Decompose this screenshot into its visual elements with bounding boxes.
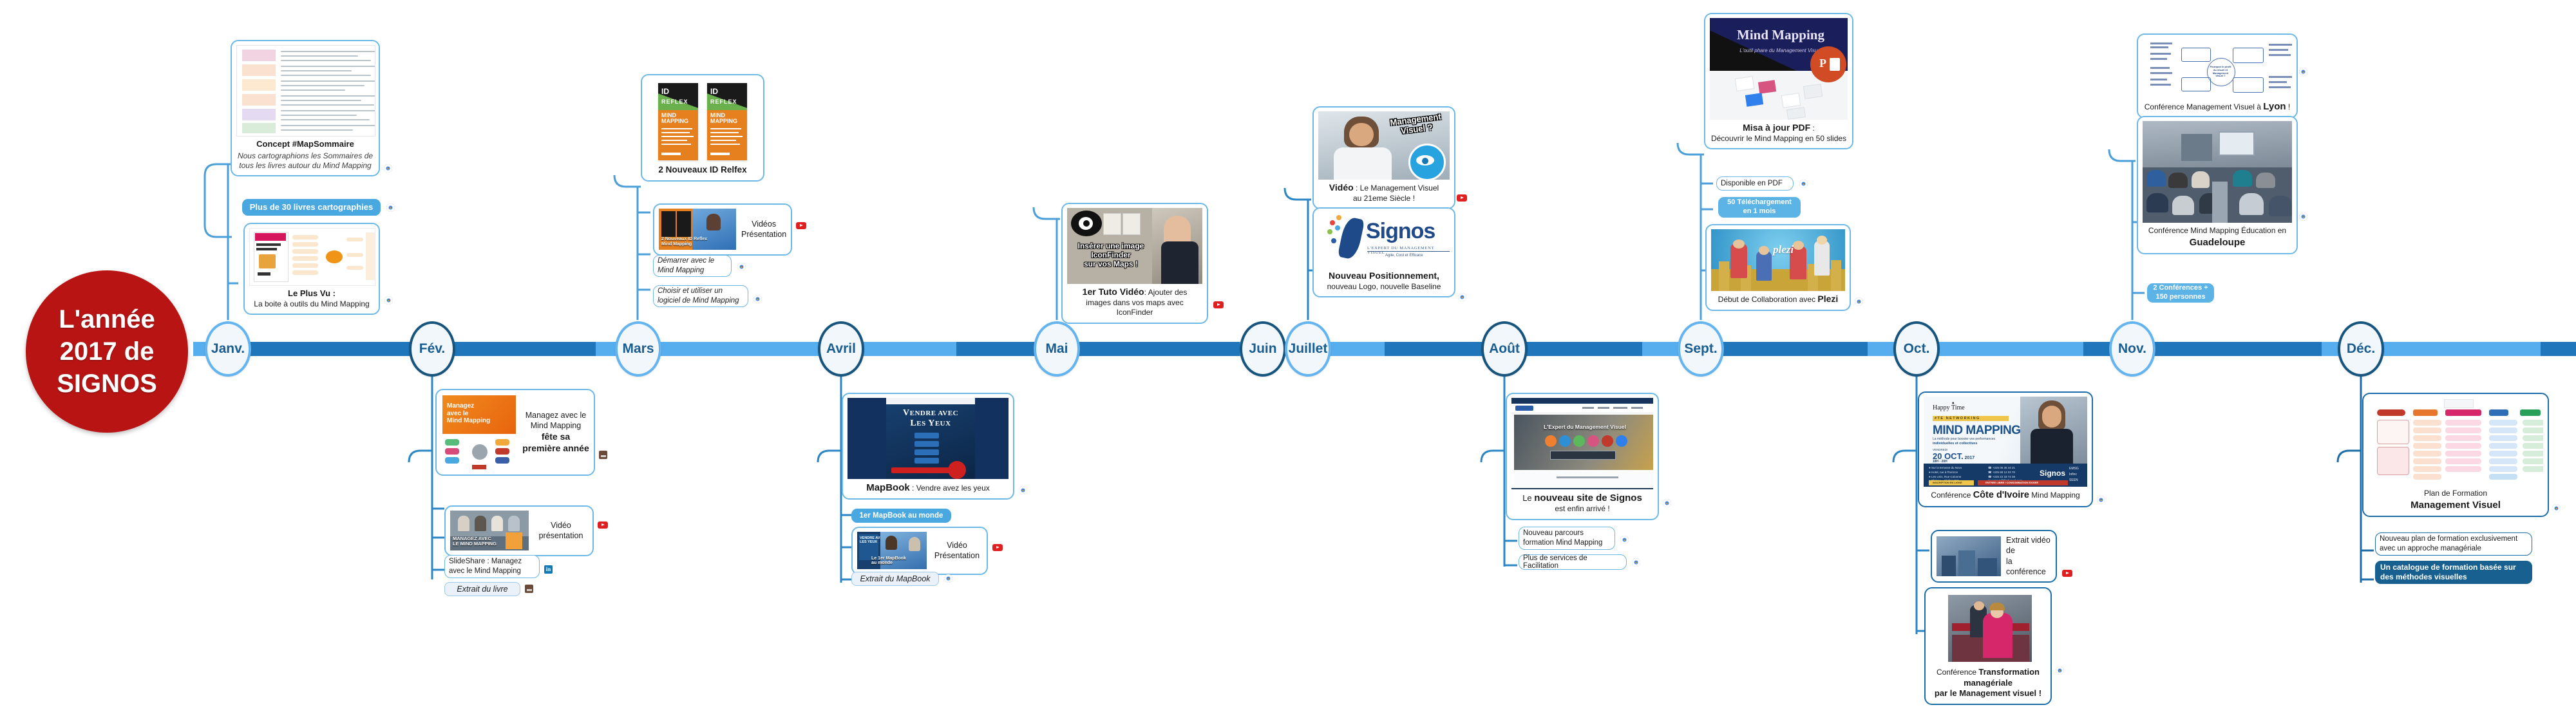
managez-text-plain: Managez avec le Mind Mapping [526, 411, 587, 430]
positionnement-caption: Nouveau Positionnement, nouveau Logo, no… [1318, 270, 1450, 292]
plezi-caption: Début de Collaboration avec Plezi [1711, 294, 1845, 305]
node-le-plus-vu[interactable]: Le Plus Vu : La boite à outils du Mind M… [243, 223, 380, 315]
lyon-caption: Conférence Management Visuel à Lyon ! [2143, 100, 2292, 113]
mapbook-subtitle: : Vendre avez les yeux [910, 484, 990, 493]
plusvu-title: Le Plus Vu : [288, 288, 336, 298]
chrome-icon[interactable] [1855, 297, 1863, 306]
plan-formation-caption: Plan de Formation Management Visuel [2368, 488, 2543, 511]
node-nouveau-site-signos[interactable]: L'Expert du Management Visuel Le nouveau… [1506, 393, 1659, 520]
chrome-icon[interactable] [1799, 180, 1808, 188]
nov-badge-line1: 2 Conférences + [2153, 284, 2208, 293]
timeline-month-sept[interactable]: Sept. [1678, 321, 1724, 377]
node-fev-video-presentation[interactable]: MANAGEZ AVECLE MIND MAPPING Vidéo présen… [444, 505, 594, 556]
youtube-icon[interactable] [1457, 194, 1467, 202]
demarrer-line1: Démarrer avec le [658, 257, 714, 265]
timeline-month-fev[interactable]: Fév. [409, 321, 455, 377]
month-label: Sept. [1684, 341, 1717, 357]
chrome-icon[interactable] [2299, 68, 2307, 76]
nov-badge-line2: 150 personnes [2155, 293, 2205, 302]
mgmt-video-desc: au 21eme Siècle ! [1318, 194, 1450, 203]
plusvu-desc: La boite à outils du Mind Mapping [249, 299, 374, 309]
node-avril-extrait-mapbook[interactable]: Extrait du MapBook [851, 572, 939, 586]
month-label: Nov. [2118, 341, 2146, 357]
node-oct-extrait-video[interactable]: Extrait vidéo de la conférence [1931, 530, 2057, 583]
chrome-icon[interactable] [386, 203, 395, 212]
node-aout-parcours[interactable]: Nouveau parcours formation Mind Mapping [1519, 527, 1615, 550]
timeline-month-oct[interactable]: Oct. [1893, 321, 1940, 377]
guadeloupe-caption: Conférence Mind Mapping Éducation en Gua… [2143, 225, 2292, 249]
node-1er-tuto-video[interactable]: Insérer une imageIconFindersur vos Maps … [1061, 203, 1208, 324]
hub-line-2: 2017 de [57, 335, 157, 368]
mindmap-timeline-canvas: Janv. Fév. Mars Avril Mai Juin Juillet A… [0, 0, 2576, 714]
idreflex-books: ID REFLEX MINDMAPPING ID REFLEX MINDMAPP… [647, 79, 759, 162]
chrome-icon[interactable] [753, 295, 762, 303]
node-plan-formation-management-visuel[interactable]: Plan de Formation Management Visuel [2362, 393, 2549, 517]
parcours-line2: formation Mind Mapping [1523, 539, 1602, 547]
node-sept-badge[interactable]: 50 Téléchargement en 1 mois [1718, 197, 1801, 218]
transfo-thumbnail [1930, 592, 2046, 664]
mgmt-video-title: Vidéo [1329, 182, 1354, 193]
site-caption: Le nouveau site de Signos est enfin arri… [1511, 492, 1653, 514]
youtube-icon[interactable] [796, 222, 806, 229]
timeline-month-juin[interactable]: Juin [1240, 321, 1286, 377]
node-nov-badge[interactable]: 2 Conférences + 150 personnes [2147, 283, 2214, 303]
idreflex-book-1: ID REFLEX MINDMAPPING [658, 83, 698, 160]
parcours-line1: Nouveau parcours [1523, 529, 1584, 537]
lyon-title-pre: Conférence Management Visuel à [2145, 102, 2264, 111]
node-mise-a-jour-pdf[interactable]: Mind Mapping L'outil phare du Management… [1704, 13, 1853, 149]
node-mars-choisir[interactable]: Choisir et utiliser un logiciel de Mind … [653, 285, 748, 307]
chrome-icon[interactable] [1620, 536, 1629, 544]
node-fev-slideshare[interactable]: SlideShare : Managez avec le Mind Mappin… [444, 555, 540, 578]
node-avril-badge[interactable]: 1er MapBook au monde [851, 509, 951, 523]
avril-video-line2: Présentation [934, 551, 980, 560]
chrome-icon[interactable] [737, 263, 746, 271]
timeline-month-juillet[interactable]: Juillet [1285, 321, 1331, 377]
oct-extrait-label: Extrait vidéo de la conférence [2006, 535, 2051, 577]
pdf-desc: Découvrir le Mind Mapping en 50 slides [1710, 134, 1848, 144]
lyon-title-post: ! [2286, 102, 2291, 111]
node-nouveau-positionnement[interactable]: Signos L'EXPERT DU MANAGEMENT VISUEL Agi… [1312, 207, 1455, 297]
avril-extrait-label: Extrait du MapBook [860, 574, 930, 583]
sept-badge-line2: en 1 mois [1743, 207, 1776, 216]
hub-line-1: L'année [57, 303, 157, 335]
node-dec-nouveau-plan[interactable]: Nouveau plan de formation exclusivement … [2375, 532, 2532, 556]
site-title-bold: nouveau site de Signos [1534, 493, 1642, 503]
oct-extrait-row: Extrait vidéo de la conférence [1937, 535, 2051, 577]
tuto-video-desc: images dans vos maps avec IconFinder [1067, 298, 1202, 318]
slideshare-line2: avec le Mind Mapping [449, 567, 521, 575]
guadeloupe-title-bold: Guadeloupe [2190, 237, 2246, 248]
mars-video-line2: Présentation [741, 230, 786, 239]
node-sept-disponible-pdf[interactable]: Disponible en PDF [1716, 176, 1794, 191]
plan-formation-thumbnail [2368, 398, 2543, 485]
demarrer-line2: Mind Mapping [658, 267, 704, 274]
site-title-pre: Le [1522, 493, 1534, 503]
idreflex-caption: 2 Nouveaux ID Relfex [647, 164, 759, 176]
dec-badge-line2: des méthodes visuelles [2380, 572, 2467, 582]
choisir-line2: logiciel de Mind Mapping [658, 297, 739, 305]
fev-video-line1: Vidéo [551, 521, 571, 530]
idreflex-book-2: ID REFLEX MINDMAPPING [707, 83, 747, 160]
chrome-icon[interactable] [944, 574, 952, 583]
pdf-title: Misa à jour PDF [1743, 122, 1810, 133]
fev-video-thumbnail: MANAGEZ AVECLE MIND MAPPING [450, 511, 529, 550]
month-label: Avril [826, 341, 856, 357]
avril-badge-label: 1er MapBook au monde [860, 511, 943, 520]
node-concept-mapsommaire[interactable]: Concept #MapSommaire Nous cartographions… [231, 40, 380, 176]
plusvu-thumbnail [249, 228, 375, 286]
chrome-icon[interactable] [1663, 499, 1671, 507]
month-label: Déc. [2347, 341, 2375, 357]
avril-video-thumbnail: VENDRE AVECLES YEUX Le 1er MapBookau mon… [857, 532, 927, 569]
plan-title-pre: Plan de Formation [2424, 489, 2487, 498]
node-video-management-visuel[interactable]: ManagementVisuel ? Vidéo : Le Management… [1312, 106, 1455, 209]
plezi-title-pre: Début de Collaboration avec [1718, 295, 1818, 304]
chrome-icon[interactable] [384, 164, 392, 173]
oct-extrait-line1: Extrait vidéo de [2006, 536, 2050, 555]
mars-video-line1: Vidéos [752, 220, 776, 229]
youtube-icon[interactable] [1213, 301, 1224, 308]
disponible-label: Disponible en PDF [1721, 180, 1783, 187]
avril-video-line1: Vidéo [947, 541, 967, 550]
fev-video-line2: présentation [539, 531, 583, 540]
node-mars-demarrer[interactable]: Démarrer avec le Mind Mapping [653, 255, 732, 277]
node-conference-transformation[interactable]: Conférence Transformation managériale pa… [1924, 587, 2052, 705]
transfo-title-bold-2: par le Management visuel ! [1935, 688, 2041, 698]
managez-text-bold: fête sa première année [522, 431, 589, 453]
choisir-line1: Choisir et utiliser un [658, 287, 723, 295]
civ-title-pre: Conférence [1931, 491, 1973, 500]
mars-video-label: Vidéos Présentation [741, 219, 786, 240]
plezi-title-bold: Plezi [1817, 294, 1838, 304]
node-avril-video-presentation[interactable]: VENDRE AVECLES YEUX Le 1er MapBookau mon… [851, 527, 988, 575]
node-fev-extrait-livre[interactable]: Extrait du livre [444, 582, 520, 596]
site-screenshot: L'Expert du Management Visuel [1511, 398, 1653, 489]
chrome-icon[interactable] [1019, 486, 1027, 494]
center-hub: L'année 2017 de SIGNOS [26, 270, 188, 433]
slideshare-line1: SlideShare : Managez [449, 558, 522, 565]
mapbook-caption: MapBook : Vendre avez les yeux [848, 482, 1009, 494]
tuto-video-subtitle: : Ajouter des [1144, 288, 1188, 297]
guadeloupe-title-pre: Conférence Mind Mapping Éducation en [2148, 226, 2286, 235]
mgmt-video-thumbnail: ManagementVisuel ? [1318, 111, 1450, 180]
pdf-icon[interactable] [599, 451, 607, 459]
positionnement-title: Nouveau Positionnement, [1329, 270, 1439, 281]
mapbook-thumbnail: VENDRE AVECLES YEUX [848, 398, 1009, 479]
chrome-icon[interactable] [2056, 666, 2064, 675]
signos-logo: Signos L'EXPERT DU MANAGEMENT VISUEL Agi… [1318, 212, 1450, 268]
linkedin-icon[interactable]: in [544, 565, 553, 574]
lyon-title-bold: Lyon [2263, 101, 2286, 112]
chrome-icon[interactable] [2552, 504, 2561, 512]
transfo-caption: Conférence Transformation managériale pa… [1930, 667, 2046, 699]
fev-extrait-label: Extrait du livre [457, 585, 507, 594]
timeline-month-dec[interactable]: Déc. [2338, 321, 2384, 377]
node-aout-services[interactable]: Plus de services de Facilitation [1519, 554, 1627, 570]
month-label: Oct. [1904, 341, 1930, 357]
timeline-month-mars[interactable]: Mars [615, 321, 661, 377]
tuto-video-caption: 1er Tuto Vidéo: Ajouter des images dans … [1067, 287, 1202, 318]
month-label: Fév. [419, 341, 445, 357]
month-label: Janv. [211, 341, 245, 357]
services-label: Plus de services de Facilitation [1523, 554, 1622, 570]
chrome-icon[interactable] [2299, 212, 2307, 221]
timeline-month-janv[interactable]: Janv. [205, 321, 251, 377]
managez-label: Managez avec le Mind Mapping fête sa pre… [522, 410, 589, 455]
fev-video-row: MANAGEZ AVECLE MIND MAPPING Vidéo présen… [450, 511, 588, 550]
managez-row: Managezavec leMind Mapping Managez avec … [441, 394, 589, 470]
site-desc: est enfin arrivé ! [1511, 504, 1653, 514]
node-dec-badge[interactable]: Un catalogue de formation basée sur des … [2375, 561, 2532, 584]
pdf-subtitle: : [1810, 124, 1815, 133]
pdf-icon[interactable] [525, 585, 533, 593]
timeline-month-avril[interactable]: Avril [818, 321, 864, 377]
node-conference-cote-divoire[interactable]: ♦ Happy Time #TE NETWORKING MIND MAPPING… [1918, 391, 2093, 507]
mars-video-row: 2 Nouveaux ID ReflexMind Mapping Vidéos … [659, 209, 786, 250]
civ-title-post: Mind Mapping [2029, 491, 2080, 500]
mapsommaire-desc-line1: Nous cartographions les Sommaires de [238, 151, 373, 160]
chrome-icon[interactable] [1632, 558, 1640, 567]
tuto-video-title: 1er Tuto Vidéo [1083, 287, 1144, 297]
mgmt-video-subtitle: : Le Management Visuel [1354, 183, 1439, 193]
mapsommaire-title: Concept #MapSommaire [256, 139, 354, 149]
month-label: Mai [1045, 341, 1068, 357]
janv-badge-label: Plus de 30 livres cartographies [250, 202, 373, 212]
plezi-thumbnail: plezi [1711, 229, 1845, 291]
chrome-icon[interactable] [2097, 496, 2105, 504]
mapsommaire-desc-line2: tous les livres autour du Mind Mapping [239, 161, 371, 170]
youtube-icon[interactable] [992, 544, 1003, 551]
chrome-icon[interactable] [1458, 293, 1466, 301]
tuto-video-thumbnail: Insérer une imageIconFindersur vos Maps … [1067, 208, 1202, 284]
node-janv-badge[interactable]: Plus de 30 livres cartographies [242, 199, 381, 216]
plan-title-bold: Management Visuel [2410, 500, 2501, 511]
oct-extrait-line2: la conférence [2006, 557, 2046, 576]
avril-video-label: Vidéo Présentation [932, 540, 982, 561]
mgmt-video-caption: Vidéo : Le Management Visuel au 21eme Si… [1318, 182, 1450, 203]
civ-poster-thumbnail: ♦ Happy Time #TE NETWORKING MIND MAPPING… [1924, 397, 2087, 487]
node-collaboration-plezi[interactable]: plezi Début de Collaboration avec Plezi [1705, 224, 1851, 311]
transfo-title-pre: Conférence [1937, 668, 1978, 677]
month-label: Juillet [1289, 341, 1328, 357]
node-2-nouveaux-id-reflex[interactable]: ID REFLEX MINDMAPPING ID REFLEX MINDMAPP… [641, 74, 764, 182]
mapbook-title: MapBook [866, 482, 910, 493]
month-label: Mars [622, 341, 654, 357]
plusvu-caption: Le Plus Vu : La boite à outils du Mind M… [249, 288, 374, 309]
mapsommaire-caption: Concept #MapSommaire Nous cartographions… [236, 139, 374, 171]
node-conference-lyon[interactable]: Pourquoi le profil du visuel et Manageme… [2137, 33, 2298, 118]
positionnement-desc: nouveau Logo, nouvelle Baseline [1318, 282, 1450, 292]
node-mapbook-vendre-avec-les-yeux[interactable]: VENDRE AVECLES YEUX MapBook : Vendre ave… [842, 393, 1014, 500]
youtube-icon[interactable] [598, 521, 608, 529]
node-mars-videos-presentation[interactable]: 2 Nouveaux ID ReflexMind Mapping Vidéos … [653, 203, 792, 256]
timeline-month-nov[interactable]: Nov. [2109, 321, 2155, 377]
chrome-icon[interactable] [384, 296, 393, 305]
node-conference-guadeloupe[interactable]: Conférence Mind Mapping Éducation en Gua… [2137, 116, 2298, 254]
dec-nouveau-line1: Nouveau plan de formation exclusivement [2380, 535, 2517, 543]
timeline-month-mai[interactable]: Mai [1034, 321, 1080, 377]
month-label: Août [1489, 341, 1520, 357]
node-managez-anniversaire[interactable]: Managezavec leMind Mapping Managez avec … [435, 389, 595, 476]
fev-video-label: Vidéo présentation [534, 520, 588, 541]
idreflex-title: 2 Nouveaux ID Relfex [658, 165, 746, 174]
dec-nouveau-line2: avec un approche managériale [2380, 545, 2481, 552]
pdf-slide-thumbnail: Mind Mapping L'outil phare du Management… [1710, 18, 1848, 120]
pdf-caption: Misa à jour PDF : Découvrir le Mind Mapp… [1710, 122, 1848, 144]
oct-extrait-thumbnail [1937, 536, 2001, 576]
month-label: Juin [1249, 341, 1276, 357]
dec-badge-line1: Un catalogue de formation basée sur [2380, 563, 2516, 572]
guadeloupe-thumbnail [2143, 121, 2292, 223]
mapsommaire-thumbnail [236, 45, 375, 136]
civ-caption: Conférence Côte d'Ivoire Mind Mapping [1924, 489, 2087, 502]
civ-title-bold: Côte d'Ivoire [1973, 490, 2029, 500]
avril-video-row: VENDRE AVECLES YEUX Le 1er MapBookau mon… [857, 532, 982, 569]
hub-line-3: SIGNOS [57, 368, 157, 400]
lyon-map-thumbnail: Pourquoi le profil du visuel et Manageme… [2143, 39, 2292, 98]
mars-video-thumbnail: 2 Nouveaux ID ReflexMind Mapping [659, 209, 736, 250]
timeline-month-aout[interactable]: Août [1481, 321, 1528, 377]
managez-book-thumbnail: Managezavec leMind Mapping [441, 394, 517, 470]
sept-badge-line1: 50 Téléchargement [1727, 198, 1792, 207]
youtube-icon[interactable] [2062, 570, 2072, 577]
